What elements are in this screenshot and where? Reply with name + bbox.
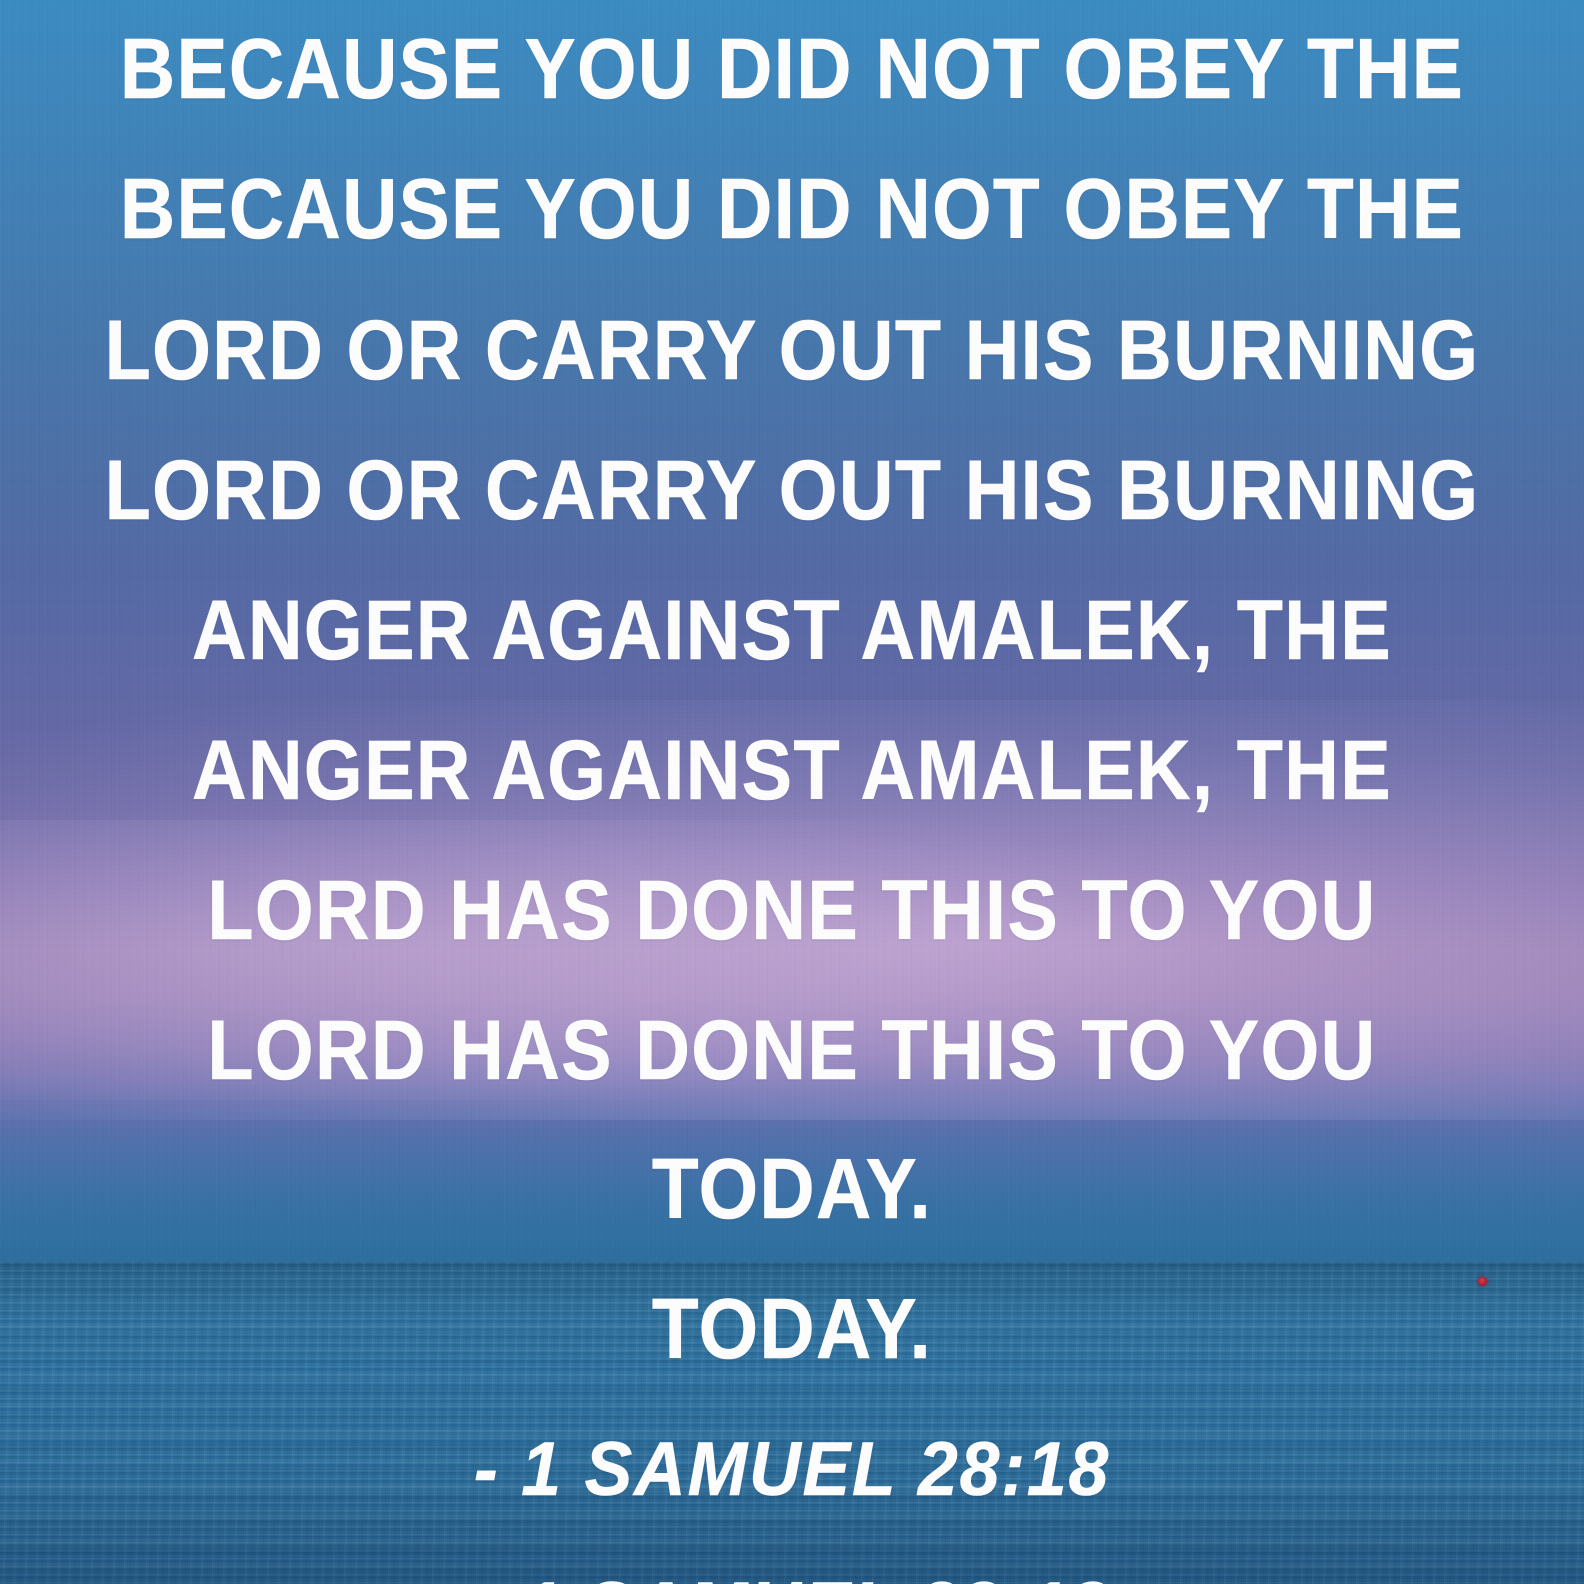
ocean bbox=[0, 1262, 1584, 1584]
verse-image-canvas: BECAUSE YOU DID NOT OBEY THE BECAUSE YOU… bbox=[0, 0, 1584, 1584]
horizon-haze bbox=[0, 1080, 1584, 1262]
buoy-marker bbox=[1478, 1277, 1487, 1286]
sky-texture bbox=[0, 0, 1584, 1262]
ocean-depth-shading bbox=[0, 1262, 1584, 1584]
